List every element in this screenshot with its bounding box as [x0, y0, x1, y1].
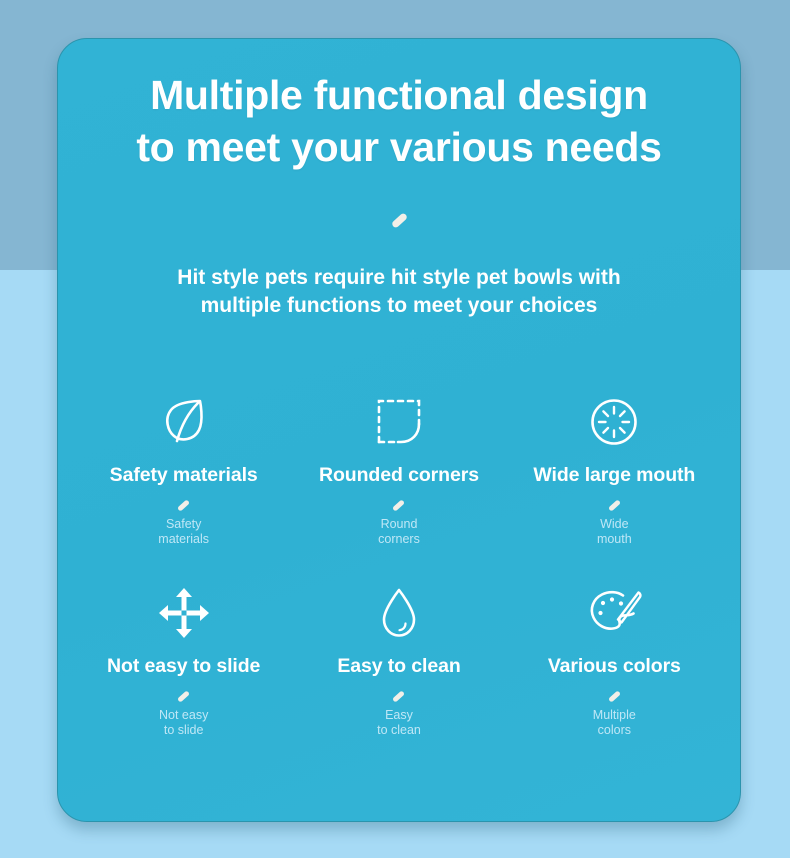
feature-caption-line-1: Round	[378, 517, 420, 532]
feature-item-safety-materials: Safety materials Safety materials	[76, 394, 291, 548]
wide-mouth-aperture-icon	[589, 394, 639, 450]
feature-title: Safety materials	[110, 464, 258, 487]
water-droplet-icon	[379, 585, 419, 641]
leaf-icon	[160, 394, 208, 450]
feature-caption-line-2: mouth	[597, 532, 632, 547]
page-title: Multiple functional design to meet your …	[58, 69, 740, 173]
feature-title: Easy to clean	[337, 655, 460, 678]
page-subtitle-line-1: Hit style pets require hit style pet bow…	[82, 264, 716, 292]
feature-caption: Not easy to slide	[159, 708, 208, 739]
feature-caption: Safety materials	[158, 517, 209, 548]
feature-item-rounded-corners: Rounded corners Round corners	[291, 394, 506, 548]
diagonal-pill-divider-icon	[392, 690, 405, 702]
feature-title: Rounded corners	[319, 464, 479, 487]
feature-caption-line-1: Not easy	[159, 708, 208, 723]
four-direction-arrows-icon	[158, 585, 210, 641]
paint-palette-icon	[587, 585, 641, 641]
feature-caption: Multiple colors	[593, 708, 636, 739]
feature-caption-line-2: to clean	[377, 723, 421, 738]
diagonal-pill-divider-icon	[390, 212, 407, 229]
feature-caption-line-1: Safety	[158, 517, 209, 532]
feature-caption-line-2: colors	[593, 723, 636, 738]
feature-caption-line-1: Multiple	[593, 708, 636, 723]
feature-caption-line-2: to slide	[159, 723, 208, 738]
feature-caption: Easy to clean	[377, 708, 421, 739]
feature-item-not-easy-to-slide: Not easy to slide Not easy to slide	[76, 585, 291, 739]
feature-item-wide-large-mouth: Wide large mouth Wide mouth	[507, 394, 722, 548]
diagonal-pill-divider-icon	[177, 690, 190, 702]
feature-item-various-colors: Various colors Multiple colors	[507, 585, 722, 739]
page-subtitle: Hit style pets require hit style pet bow…	[58, 264, 740, 319]
page-title-line-2: to meet your various needs	[80, 121, 718, 173]
feature-item-easy-to-clean: Easy to clean Easy to clean	[291, 585, 506, 739]
feature-caption-line-1: Wide	[597, 517, 632, 532]
feature-caption: Wide mouth	[597, 517, 632, 548]
feature-caption-line-2: materials	[158, 532, 209, 547]
feature-title: Various colors	[548, 655, 681, 678]
feature-title: Wide large mouth	[533, 464, 695, 487]
diagonal-pill-divider-icon	[608, 690, 621, 702]
page-subtitle-line-2: multiple functions to meet your choices	[82, 292, 716, 320]
feature-grid: Safety materials Safety materials Rounde…	[58, 394, 740, 739]
feature-title: Not easy to slide	[107, 655, 260, 678]
diagonal-pill-divider-icon	[608, 499, 621, 511]
feature-caption-line-1: Easy	[377, 708, 421, 723]
feature-caption: Round corners	[378, 517, 420, 548]
page-title-line-1: Multiple functional design	[80, 69, 718, 121]
diagonal-pill-divider-icon	[392, 499, 405, 511]
diagonal-pill-divider-icon	[177, 499, 190, 511]
rounded-corner-icon	[376, 394, 422, 450]
feature-card: Multiple functional design to meet your …	[57, 38, 741, 822]
feature-caption-line-2: corners	[378, 532, 420, 547]
